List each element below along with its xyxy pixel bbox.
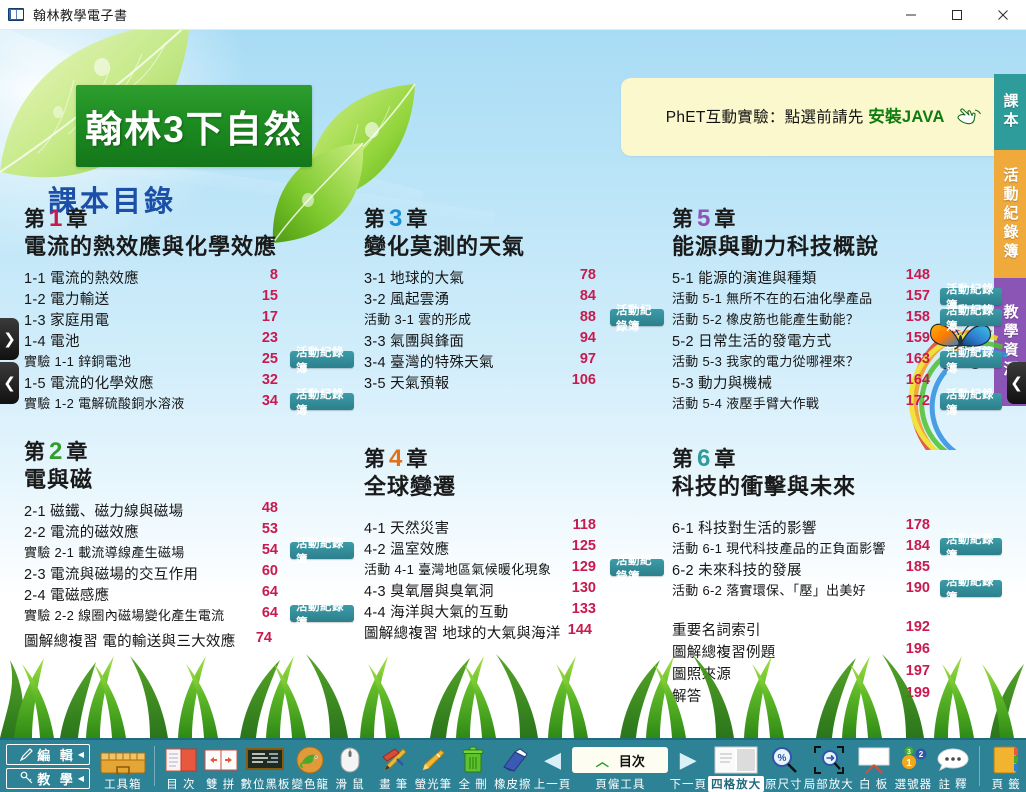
chapter-entry-list: 6-1 科技對生活的影響178 活動 6-1 現代科技產品的正負面影響184活動… [672, 517, 1002, 601]
chapter-prefix: 第 [672, 448, 694, 471]
toc-entry-page: 158 [900, 309, 930, 325]
chapter-suffix: 章 [406, 208, 428, 231]
toc-entry-page: 84 [564, 288, 596, 304]
toc-entry[interactable]: 3-1 地球的大氣78 [364, 267, 664, 288]
toolbar-divider [979, 746, 980, 786]
chevron-left-icon: ◀ [78, 750, 87, 759]
dual-page-icon [203, 745, 239, 775]
toc-entry-page: 32 [252, 372, 278, 388]
chapter-number: 5 [694, 205, 714, 232]
activity-log-badge[interactable]: 活動紀錄簿 [940, 393, 1002, 410]
highlighter-button[interactable]: 螢光筆 [414, 740, 454, 792]
arrow-right-icon: ▶ [680, 745, 697, 775]
chapter-title: 全球變遷 [364, 473, 664, 501]
chapter-entry-list: 2-1 磁鐵、磁力線與磁場48 2-2 電流的磁效應53 實驗 2-1 載流導線… [24, 500, 354, 651]
table-of-contents: 第1章 電流的熱效應與化學效應 1-1 電流的熱效應8 1-2 電力輸送15 1… [0, 30, 1026, 738]
toc-entry-page: 106 [564, 372, 596, 388]
quad-zoom-icon [714, 745, 758, 775]
prev-page-button[interactable]: ◀ 上一頁 [533, 740, 573, 792]
activity-log-badge[interactable]: 活動紀錄簿 [290, 605, 354, 622]
toc-entry-label: 活動 6-1 現代科技產品的正負面影響 [672, 538, 886, 557]
toc-entry-page: 78 [564, 267, 596, 283]
toc-entry-label: 活動 5-4 液壓手臂大作戰 [672, 393, 819, 412]
number-picker-label: 選號器 [895, 776, 933, 792]
toc-entry-label: 1-3 家庭用電 [24, 309, 109, 330]
chameleon-label: 變色龍 [292, 776, 330, 792]
mode-button-group: 編 輯 ◀ 教 學 ◀ [6, 744, 90, 789]
toc-entry-label: 1-1 電流的熱效應 [24, 267, 139, 288]
toc-column-2: 第3章 變化莫測的天氣 3-1 地球的大氣78 3-2 風起雲湧84 活動 3-… [364, 205, 664, 393]
blackboard-icon [245, 745, 285, 775]
pencil-icon [20, 747, 34, 761]
toc-entry-page: 172 [900, 393, 930, 409]
toc-entry-page: 64 [252, 584, 278, 600]
chapter-heading: 第2章 電與磁 [24, 438, 354, 494]
toolbox-button[interactable]: 工具箱 [98, 740, 148, 792]
toc-entry[interactable]: 1-3 家庭用電17 [24, 309, 354, 330]
title-bar: 翰林教學電子書 [0, 0, 1026, 30]
chameleon-button[interactable]: 變色龍 [290, 740, 330, 792]
toc-entry-label: 4-1 天然災害 [364, 517, 449, 538]
trash-icon [460, 745, 486, 775]
close-button[interactable] [980, 0, 1026, 30]
toc-entry[interactable]: 1-2 電力輸送15 [24, 288, 354, 309]
toc-column-2-lower: 第4章 全球變遷 4-1 天然災害118 4-2 溫室效應125 活動 4-1 … [364, 445, 664, 643]
page-tool-label: 目次 [619, 751, 645, 770]
toc-entry[interactable]: 重要名詞索引192 [672, 619, 1002, 641]
toc-entry-label: 3-5 天氣預報 [364, 372, 449, 393]
chapter-number: 4 [386, 445, 406, 472]
activity-log-badge[interactable]: 活動紀錄簿 [940, 580, 1002, 597]
toc-entry[interactable]: 圖解總複習 地球的大氣與海洋144 [364, 622, 664, 643]
activity-log-badge[interactable]: 活動紀錄簿 [290, 542, 354, 559]
activity-log-badge[interactable]: 活動紀錄簿 [610, 559, 664, 576]
chapter-title: 科技的衝擊與未來 [672, 473, 1002, 501]
toc-entry-label: 1-2 電力輸送 [24, 288, 109, 309]
toc-entry-page: 118 [564, 517, 596, 533]
book-app-icon [8, 6, 26, 24]
application-window: 翰林教學電子書 [0, 0, 1026, 792]
toc-entry-label: 3-1 地球的大氣 [364, 267, 464, 288]
toolbox-label: 工具箱 [104, 776, 142, 792]
toc-entry-page: 94 [564, 330, 596, 346]
toc-entry[interactable]: 3-4 臺灣的特殊天氣97 [364, 351, 664, 372]
svg-text:2: 2 [919, 750, 924, 759]
toc-entry-page: 60 [252, 563, 278, 579]
activity-log-badge[interactable]: 活動紀錄簿 [940, 351, 1002, 368]
edit-mode-button[interactable]: 編 輯 ◀ [6, 744, 90, 765]
toc-entry[interactable]: 活動 5-4 液壓手臂大作戰172活動紀錄簿 [672, 393, 1002, 414]
toc-entry-label: 2-2 電流的磁效應 [24, 521, 139, 542]
mouse-label: 滑 鼠 [335, 776, 364, 792]
number-picker-button[interactable]: 3 2 1 選號器 [893, 740, 933, 792]
page-tool-group[interactable]: ︿ 目次 頁僱工具 [572, 740, 668, 792]
pen-icon [379, 745, 409, 775]
bookmark-icon [990, 745, 1022, 775]
toc-entry-page: 97 [564, 351, 596, 367]
highlighter-icon [418, 745, 448, 775]
chapter-prefix: 第 [364, 448, 386, 471]
toolbar-divider [154, 746, 155, 786]
toc-entry-label: 2-3 電流與磁場的交互作用 [24, 563, 198, 584]
ebook-page: 翰林3下自然 課本目錄 PhET互動實驗：點選前請先 安裝JAVA 課本 活動紀… [0, 30, 1026, 738]
toc-entry-page: 184 [900, 538, 930, 554]
toc-entry-label: 4-4 海洋與大氣的互動 [364, 601, 509, 622]
chapter-prefix: 第 [24, 441, 46, 464]
key-icon [20, 771, 34, 785]
activity-log-badge[interactable]: 活動紀錄簿 [610, 309, 664, 326]
next-page-label: 下一頁 [669, 776, 707, 792]
chapter-number: 2 [46, 438, 66, 465]
chapter-suffix: 章 [714, 448, 736, 471]
toc-entry-label: 活動 5-2 橡皮筋也能產生動能？ [672, 309, 859, 328]
toc-entry-page: 125 [564, 538, 596, 554]
chapter-title: 變化莫測的天氣 [364, 233, 664, 261]
toc-entry[interactable]: 3-5 天氣預報106 [364, 372, 664, 393]
window-title: 翰林教學電子書 [33, 5, 128, 24]
toc-entry[interactable]: 2-1 磁鐵、磁力線與磁場48 [24, 500, 354, 521]
region-zoom-button[interactable]: 局部放大 [804, 740, 854, 792]
actual-size-label: 原尺寸 [765, 776, 803, 792]
region-zoom-label: 局部放大 [804, 776, 854, 792]
toc-entry-label: 2-1 磁鐵、磁力線與磁場 [24, 500, 183, 521]
actual-size-button[interactable]: % 原尺寸 [764, 740, 804, 792]
blackboard-button[interactable]: 數位黑板 [240, 740, 290, 792]
toc-entry-label: 活動 4-1 臺灣地區氣候暖化現象 [364, 559, 551, 578]
comment-icon [936, 745, 970, 775]
chapter-number: 6 [694, 445, 714, 472]
chapter-entry-list: 4-1 天然災害118 4-2 溫室效應125 活動 4-1 臺灣地區氣候暖化現… [364, 517, 664, 643]
toc-entry[interactable]: 1-1 電流的熱效應8 [24, 267, 354, 288]
blackboard-label: 數位黑板 [240, 776, 290, 792]
toc-entry-page: 25 [252, 351, 278, 367]
chapter-heading: 第1章 電流的熱效應與化學效應 [24, 205, 354, 261]
toc-entry[interactable]: 3-3 氣團與鋒面94 [364, 330, 664, 351]
toc-entry-page: 157 [900, 288, 930, 304]
toc-column-1: 第1章 電流的熱效應與化學效應 1-1 電流的熱效應8 1-2 電力輸送15 1… [24, 205, 354, 414]
toc-entry[interactable]: 實驗 2-1 載流導線產生磁場54活動紀錄簿 [24, 542, 354, 563]
toc-entry[interactable]: 活動 3-1 雲的形成88活動紀錄簿 [364, 309, 664, 330]
svg-text:1: 1 [907, 758, 913, 769]
toc-entry-page: 144 [560, 622, 592, 638]
grass-decoration [0, 646, 1026, 738]
annotation-button[interactable]: 註 釋 [933, 740, 973, 792]
activity-log-badge[interactable]: 活動紀錄簿 [290, 351, 354, 368]
toc-column-3: 第5章 能源與動力科技概說 5-1 能源的演進與種類148 活動 5-1 無所不… [672, 205, 1002, 414]
contents-icon [164, 745, 198, 775]
dual-page-label: 雙 拼 [206, 776, 235, 792]
chapter-prefix: 第 [364, 208, 386, 231]
toc-entry-label: 重要名詞索引 [672, 619, 761, 640]
toc-entry-label: 實驗 2-1 載流導線產生磁場 [24, 542, 185, 561]
toc-entry-label: 活動 5-3 我家的電力從哪裡來？ [672, 351, 859, 370]
toc-entry[interactable]: 活動 4-1 臺灣地區氣候暖化現象129活動紀錄簿 [364, 559, 664, 580]
bookmark-button[interactable]: 頁 籤 [986, 740, 1026, 792]
chapter-title: 電流的熱效應與化學效應 [24, 233, 354, 261]
toc-entry-page: 178 [900, 517, 930, 533]
mouse-icon [339, 745, 361, 775]
pen-button[interactable]: 畫 筆 [374, 740, 414, 792]
chapter-heading: 第4章 全球變遷 [364, 445, 664, 501]
eraser-icon [498, 745, 528, 775]
percent-zoom-icon: % [769, 745, 799, 775]
bookmark-label: 頁 籤 [992, 776, 1021, 792]
region-zoom-icon [813, 745, 845, 775]
svg-text:%: % [777, 753, 786, 764]
chapter-entry-list: 3-1 地球的大氣78 3-2 風起雲湧84 活動 3-1 雲的形成88活動紀錄… [364, 267, 664, 393]
toc-entry-label: 3-3 氣團與鋒面 [364, 330, 464, 351]
toc-entry-label: 5-1 能源的演進與種類 [672, 267, 817, 288]
toc-entry-label: 6-1 科技對生活的影響 [672, 517, 817, 538]
toc-entry-label: 活動 3-1 雲的形成 [364, 309, 471, 328]
whiteboard-icon [857, 745, 891, 775]
toc-entry-label: 活動 6-2 落實環保、「壓」出美好 [672, 580, 866, 599]
chapter-entry-list: 1-1 電流的熱效應8 1-2 電力輸送15 1-3 家庭用電17 1-4 電池… [24, 267, 354, 414]
toc-entry-label: 1-4 電池 [24, 330, 80, 351]
chevron-up-icon[interactable]: ︿ [596, 751, 609, 770]
toc-entry[interactable]: 活動 6-1 現代科技產品的正負面影響184活動紀錄簿 [672, 538, 1002, 559]
toc-entry-page: 129 [564, 559, 596, 575]
toc-entry-label: 1-5 電流的化學效應 [24, 372, 154, 393]
page-jump-control[interactable]: ︿ 目次 [572, 747, 668, 773]
toc-entry-page: 17 [252, 309, 278, 325]
toc-entry-label: 實驗 1-2 電解硫酸銅水溶液 [24, 393, 185, 412]
toc-entry-page: 15 [252, 288, 278, 304]
clear-all-button[interactable]: 全 刪 [453, 740, 493, 792]
toc-entry[interactable]: 活動 6-2 落實環保、「壓」出美好190活動紀錄簿 [672, 580, 1002, 601]
toc-entry[interactable]: 活動 5-3 我家的電力從哪裡來？163活動紀錄簿 [672, 351, 1002, 372]
activity-log-badge[interactable]: 活動紀錄簿 [940, 538, 1002, 555]
toc-entry-page: 88 [564, 309, 596, 325]
toc-entry-page: 48 [252, 500, 278, 516]
clear-all-label: 全 刪 [459, 776, 488, 792]
chapter-heading: 第3章 變化莫測的天氣 [364, 205, 664, 261]
prev-page-label: 上一頁 [534, 776, 572, 792]
toc-entry-page: 159 [900, 330, 930, 346]
chevron-left-icon: ◀ [78, 774, 87, 783]
toc-entry-page: 192 [900, 619, 930, 635]
annotation-label: 註 釋 [938, 776, 967, 792]
contents-label: 目 次 [166, 776, 195, 792]
chapter-heading: 第6章 科技的衝擊與未來 [672, 445, 1002, 501]
chapter-title: 能源與動力科技概說 [672, 233, 1002, 261]
edit-mode-label: 編 輯 [37, 745, 76, 764]
toolbox-icon [99, 745, 147, 775]
toc-entry-page: 133 [564, 601, 596, 617]
dual-page-button[interactable]: 雙 拼 [201, 740, 241, 792]
toc-entry-label: 6-2 未來科技的發展 [672, 559, 802, 580]
toc-entry[interactable]: 4-1 天然災害118 [364, 517, 664, 538]
toc-entry-label: 3-4 臺灣的特殊天氣 [364, 351, 494, 372]
toc-column-1-lower: 第2章 電與磁 2-1 磁鐵、磁力線與磁場48 2-2 電流的磁效應53 實驗 … [24, 438, 354, 651]
chapter-suffix: 章 [66, 441, 88, 464]
chapter-number: 3 [386, 205, 406, 232]
toc-entry-label: 3-2 風起雲湧 [364, 288, 449, 309]
teach-mode-button[interactable]: 教 學 ◀ [6, 768, 90, 789]
chapter-heading: 第5章 能源與動力科技概說 [672, 205, 1002, 261]
bottom-toolbar: 編 輯 ◀ 教 學 ◀ [0, 738, 1026, 792]
chameleon-icon [295, 745, 325, 775]
activity-log-badge[interactable]: 活動紀錄簿 [940, 309, 1002, 326]
chapter-prefix: 第 [672, 208, 694, 231]
pen-label: 畫 筆 [379, 776, 408, 792]
page-tool-group-label: 頁僱工具 [595, 776, 645, 792]
eraser-button[interactable]: 橡皮擦 [493, 740, 533, 792]
toc-entry-page: 163 [900, 351, 930, 367]
toc-entry[interactable]: 活動 5-2 橡皮筋也能產生動能？158活動紀錄簿 [672, 309, 1002, 330]
toc-entry-page: 53 [252, 521, 278, 537]
maximize-button[interactable] [934, 0, 980, 30]
teach-mode-label: 教 學 [37, 769, 76, 788]
chapter-suffix: 章 [406, 448, 428, 471]
toc-entry[interactable]: 4-3 臭氧層與臭氧洞130 [364, 580, 664, 601]
toc-entry[interactable]: 2-3 電流與磁場的交互作用60 [24, 563, 354, 584]
eraser-label: 橡皮擦 [494, 776, 532, 792]
toc-entry-label: 2-4 電磁感應 [24, 584, 109, 605]
window-controls [888, 0, 1026, 30]
toc-entry-label: 活動 5-1 無所不在的石油化學產品 [672, 288, 872, 307]
contents-button[interactable]: 目 次 [161, 740, 201, 792]
toc-entry-page: 130 [564, 580, 596, 596]
chapter-title: 電與磁 [24, 466, 354, 494]
quad-zoom-button[interactable]: 四格放大 [708, 740, 764, 792]
whiteboard-label: 白 板 [859, 776, 888, 792]
toc-entry-page: 190 [900, 580, 930, 596]
next-page-button[interactable]: ▶ 下一頁 [668, 740, 708, 792]
toc-entry-page: 34 [252, 393, 278, 409]
toc-entry[interactable]: 實驗 1-2 電解硫酸銅水溶液34活動紀錄簿 [24, 393, 354, 414]
toc-entry-page: 23 [252, 330, 278, 346]
toc-entry-page: 64 [252, 605, 278, 621]
toc-entry-page: 8 [252, 267, 278, 283]
chapter-suffix: 章 [66, 208, 88, 231]
toc-entry-label: 實驗 1-1 鋅銅電池 [24, 351, 131, 370]
toc-entry-page: 185 [900, 559, 930, 575]
mouse-button[interactable]: 滑 鼠 [330, 740, 370, 792]
toc-entry-page: 54 [252, 542, 278, 558]
toc-entry-label: 4-3 臭氧層與臭氧洞 [364, 580, 494, 601]
chapter-number: 1 [46, 205, 66, 232]
toc-entry-label: 5-2 日常生活的發電方式 [672, 330, 831, 351]
whiteboard-button[interactable]: 白 板 [854, 740, 894, 792]
chapter-entry-list: 5-1 能源的演進與種類148 活動 5-1 無所不在的石油化學產品157活動紀… [672, 267, 1002, 414]
toc-entry-page: 164 [900, 372, 930, 388]
chapter-prefix: 第 [24, 208, 46, 231]
chapter-suffix: 章 [714, 208, 736, 231]
quad-zoom-label: 四格放大 [708, 776, 764, 792]
toc-entry-page: 148 [900, 267, 930, 283]
svg-text:3: 3 [907, 749, 911, 756]
toc-entry-label: 5-3 動力與機械 [672, 372, 772, 393]
minimize-button[interactable] [888, 0, 934, 30]
highlighter-label: 螢光筆 [415, 776, 453, 792]
toc-entry-label: 實驗 2-2 線圈內磁場變化產生電流 [24, 605, 224, 624]
toc-entry-label: 圖解總複習 地球的大氣與海洋 [364, 622, 561, 643]
number-picker-icon: 3 2 1 [896, 745, 930, 775]
arrow-left-icon: ◀ [544, 745, 561, 775]
toc-entry[interactable]: 4-4 海洋與大氣的互動133 [364, 601, 664, 622]
toc-entry-page: 74 [246, 630, 272, 646]
toc-entry-label: 4-2 溫室效應 [364, 538, 449, 559]
toc-entry[interactable]: 實驗 1-1 鋅銅電池25活動紀錄簿 [24, 351, 354, 372]
toc-entry[interactable]: 實驗 2-2 線圈內磁場變化產生電流64活動紀錄簿 [24, 605, 354, 626]
activity-log-badge[interactable]: 活動紀錄簿 [290, 393, 354, 410]
